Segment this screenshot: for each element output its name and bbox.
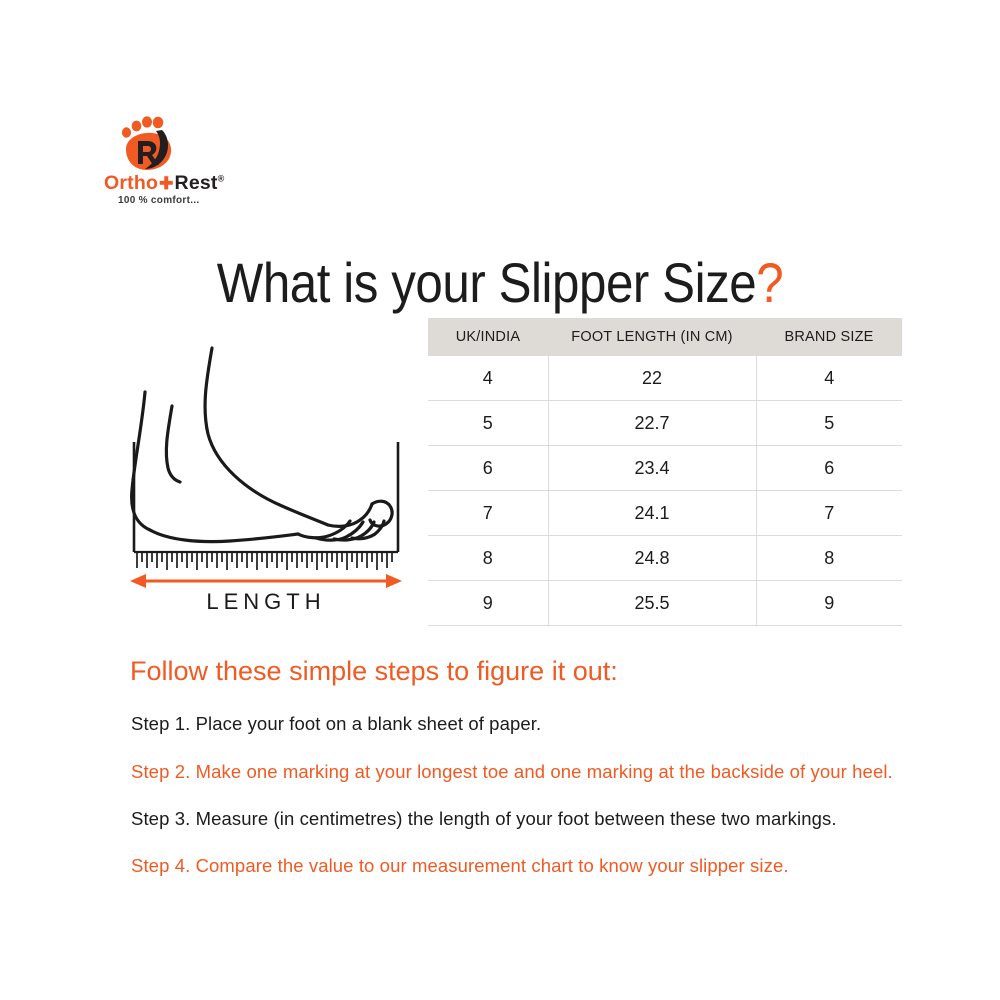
cell-uk-india: 8 [428,536,548,581]
cell-foot-length: 22 [548,356,756,401]
ruler-icon [134,552,398,570]
cell-brand-size: 8 [756,536,902,581]
column-header-foot-length: FOOT LENGTH (IN CM) [548,318,756,356]
cell-uk-india: 5 [428,401,548,446]
column-header-brand-size: BRAND SIZE [756,318,902,356]
step-item-2: Step 2. Make one marking at your longest… [131,761,893,783]
brand-name-part2: Rest [175,172,218,194]
page-title-question-mark: ? [756,251,783,314]
registered-trademark-icon: ® [218,174,225,184]
page-title: What is your Slipper Size? [60,250,940,315]
brand-tagline: 100 % comfort... [118,195,200,206]
table-row: 7 24.1 7 [428,491,902,536]
foot-outline-icon [132,348,392,542]
foot-measurement-diagram: LENGTH [120,330,425,610]
cell-uk-india: 7 [428,491,548,536]
step-item-4: Step 4. Compare the value to our measure… [131,855,789,877]
page-title-text: What is your Slipper Size [217,251,757,314]
step-item-3: Step 3. Measure (in centimetres) the len… [131,808,837,830]
cell-brand-size: 9 [756,581,902,626]
cell-brand-size: 6 [756,446,902,491]
cell-foot-length: 24.8 [548,536,756,581]
brand-plus-icon: ✚ [158,174,174,193]
steps-heading: Follow these simple steps to figure it o… [130,656,618,687]
cell-foot-length: 24.1 [548,491,756,536]
length-arrow-icon [130,574,402,588]
step-item-1: Step 1. Place your foot on a blank sheet… [131,713,541,735]
cell-foot-length: 22.7 [548,401,756,446]
cell-uk-india: 9 [428,581,548,626]
footprint-logo-icon [116,116,178,172]
cell-foot-length: 23.4 [548,446,756,491]
size-chart-table: UK/INDIA FOOT LENGTH (IN CM) BRAND SIZE … [428,318,902,626]
cell-brand-size: 7 [756,491,902,536]
table-row: 5 22.7 5 [428,401,902,446]
brand-logo: Ortho✚Rest® 100 % comfort... [104,116,294,208]
cell-uk-india: 4 [428,356,548,401]
table-row: 8 24.8 8 [428,536,902,581]
table-row: 6 23.4 6 [428,446,902,491]
column-header-uk-india: UK/INDIA [428,318,548,356]
brand-name-part1: Ortho [104,172,158,194]
cell-foot-length: 25.5 [548,581,756,626]
brand-wordmark: Ortho✚Rest® [104,172,294,194]
table-row: 9 25.5 9 [428,581,902,626]
length-label: LENGTH [206,589,325,610]
cell-uk-india: 6 [428,446,548,491]
table-row: 4 22 4 [428,356,902,401]
size-guide-page: Ortho✚Rest® 100 % comfort... What is you… [0,0,1000,1000]
cell-brand-size: 5 [756,401,902,446]
table-header-row: UK/INDIA FOOT LENGTH (IN CM) BRAND SIZE [428,318,902,356]
cell-brand-size: 4 [756,356,902,401]
